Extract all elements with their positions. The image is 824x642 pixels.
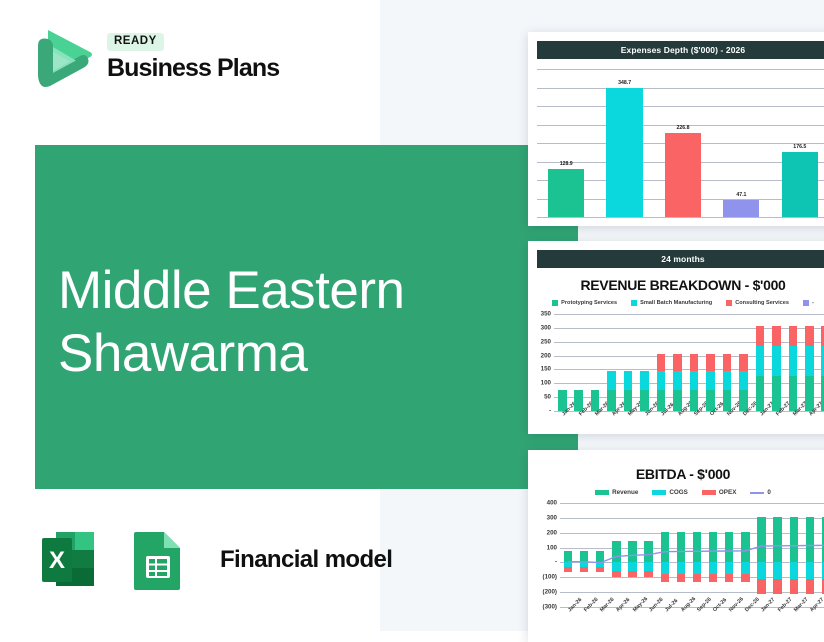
legend-swatch	[652, 490, 666, 495]
legend-swatch	[595, 490, 609, 495]
legend-label: Consulting Services	[735, 300, 789, 306]
y-axis-tick: 200	[541, 352, 551, 359]
chart-titlebar-expenses: Expenses Depth ($'000) - 2026	[537, 41, 824, 59]
chart-legend-revenue: Prototyping ServicesSmall Batch Manufact…	[528, 300, 824, 306]
legend-label: -	[812, 300, 814, 306]
gridline	[537, 69, 824, 70]
legend-label: Prototyping Services	[561, 300, 617, 306]
stack-segment	[805, 376, 814, 411]
stack-segment	[673, 354, 682, 371]
bar	[606, 88, 642, 217]
brand-logo-block: READY Business Plans	[34, 26, 279, 88]
stack-segment	[756, 346, 765, 375]
gridline	[537, 88, 824, 89]
chart-titlebar-revenue: 24 months	[537, 250, 824, 268]
y-axis-tick: -	[555, 559, 557, 566]
bar-value-label: 348.7	[618, 80, 631, 86]
play-logo-icon	[34, 26, 94, 88]
y-axis-tick: 100	[541, 380, 551, 387]
gridline	[537, 106, 824, 107]
stack-segment	[805, 326, 814, 346]
bar	[665, 133, 701, 217]
y-axis-tick: 400	[547, 500, 557, 507]
bar	[782, 152, 818, 217]
chart-card-expenses[interactable]: Expenses Depth ($'000) - 2026 128.9348.7…	[528, 32, 824, 226]
excel-icon: X	[34, 524, 106, 596]
stack-segment	[789, 346, 798, 375]
stack-segment	[607, 371, 616, 390]
legend-swatch	[631, 300, 637, 306]
y-axis-tick: 150	[541, 366, 551, 373]
legend-item: Prototyping Services	[552, 300, 617, 306]
stack-segment	[690, 354, 699, 371]
stack-segment	[756, 376, 765, 411]
stack-segment	[657, 371, 666, 390]
chart-heading-revenue: REVENUE BREAKDOWN - $'000	[528, 277, 824, 293]
legend-swatch	[702, 490, 716, 495]
stack-segment	[723, 371, 732, 390]
zero-line-series	[560, 503, 824, 607]
y-axis-tick: (300)	[543, 604, 557, 611]
footer-label: Financial model	[220, 546, 392, 574]
gridline	[554, 328, 824, 329]
stack-segment	[772, 376, 781, 411]
stack-segment	[739, 354, 748, 371]
stack-segment	[706, 354, 715, 371]
chart-heading-ebitda: EBITDA - $'000	[528, 466, 824, 482]
ready-badge: READY	[107, 33, 164, 51]
brand-name: Business Plans	[107, 55, 279, 81]
stack-segment	[624, 371, 633, 390]
legend-item: OPEX	[702, 489, 737, 496]
legend-swatch	[803, 300, 809, 306]
stack-segment	[673, 371, 682, 390]
legend-item: Consulting Services	[726, 300, 789, 306]
gridline	[554, 342, 824, 343]
legend-label: 0	[767, 489, 771, 496]
y-axis-tick: -	[549, 408, 551, 415]
gridline	[554, 314, 824, 315]
page-title: Middle Eastern Shawarma	[58, 259, 498, 385]
google-sheets-icon	[122, 524, 194, 596]
y-axis-tick: 100	[547, 544, 557, 551]
footer-row: X Financial model	[34, 524, 392, 596]
legend-swatch	[726, 300, 732, 306]
y-axis-tick: 300	[547, 514, 557, 521]
stack-segment	[739, 371, 748, 390]
legend-item: 0	[750, 489, 771, 496]
stack-segment	[772, 346, 781, 375]
legend-label: Revenue	[612, 489, 638, 496]
stack-segment	[805, 346, 814, 375]
stack-segment	[657, 354, 666, 371]
stack-segment	[772, 326, 781, 346]
bar	[723, 200, 759, 217]
y-axis-tick: (100)	[543, 574, 557, 581]
stack-segment	[640, 371, 649, 390]
plot-expenses: 128.9348.7226.847.1176.5	[537, 69, 824, 217]
chart-card-ebitda[interactable]: EBITDA - $'000 RevenueCOGSOPEX0 40030020…	[528, 450, 824, 642]
legend-label: Small Batch Manufacturing	[640, 300, 712, 306]
stack-segment	[723, 354, 732, 371]
bar-value-label: 47.1	[736, 192, 746, 198]
stack-segment	[690, 371, 699, 390]
stack-segment	[756, 326, 765, 346]
bar	[548, 169, 584, 217]
legend-label: OPEX	[719, 489, 737, 496]
plot-revenue: 35030025020015010050-Jan-26Feb-26Mar-26A…	[554, 314, 824, 411]
legend-swatch	[552, 300, 558, 306]
bar-value-label: 176.5	[793, 144, 806, 150]
legend-label: COGS	[669, 489, 688, 496]
bar-value-label: 226.8	[677, 125, 690, 131]
bar-value-label: 128.9	[560, 161, 573, 167]
stack-segment	[706, 371, 715, 390]
legend-item: -	[803, 300, 814, 306]
chart-card-revenue[interactable]: 24 months REVENUE BREAKDOWN - $'000 Prot…	[528, 241, 824, 434]
legend-item: Small Batch Manufacturing	[631, 300, 712, 306]
y-axis-tick: 300	[541, 324, 551, 331]
brand-text: READY Business Plans	[107, 33, 279, 81]
y-axis-tick: (200)	[543, 589, 557, 596]
legend-line-swatch	[750, 492, 764, 494]
plot-ebitda: 400300200100-(100)(200)(300)Jan-26Feb-26…	[560, 503, 824, 607]
y-axis-tick: 50	[544, 394, 551, 401]
gridline	[537, 217, 824, 218]
y-axis-tick: 250	[541, 338, 551, 345]
y-axis-tick: 200	[547, 529, 557, 536]
stack-segment	[789, 376, 798, 411]
stack-segment	[789, 326, 798, 346]
svg-text:X: X	[49, 547, 65, 574]
y-axis-tick: 350	[541, 311, 551, 318]
chart-legend-ebitda: RevenueCOGSOPEX0	[528, 489, 824, 496]
legend-item: COGS	[652, 489, 688, 496]
legend-item: Revenue	[595, 489, 638, 496]
